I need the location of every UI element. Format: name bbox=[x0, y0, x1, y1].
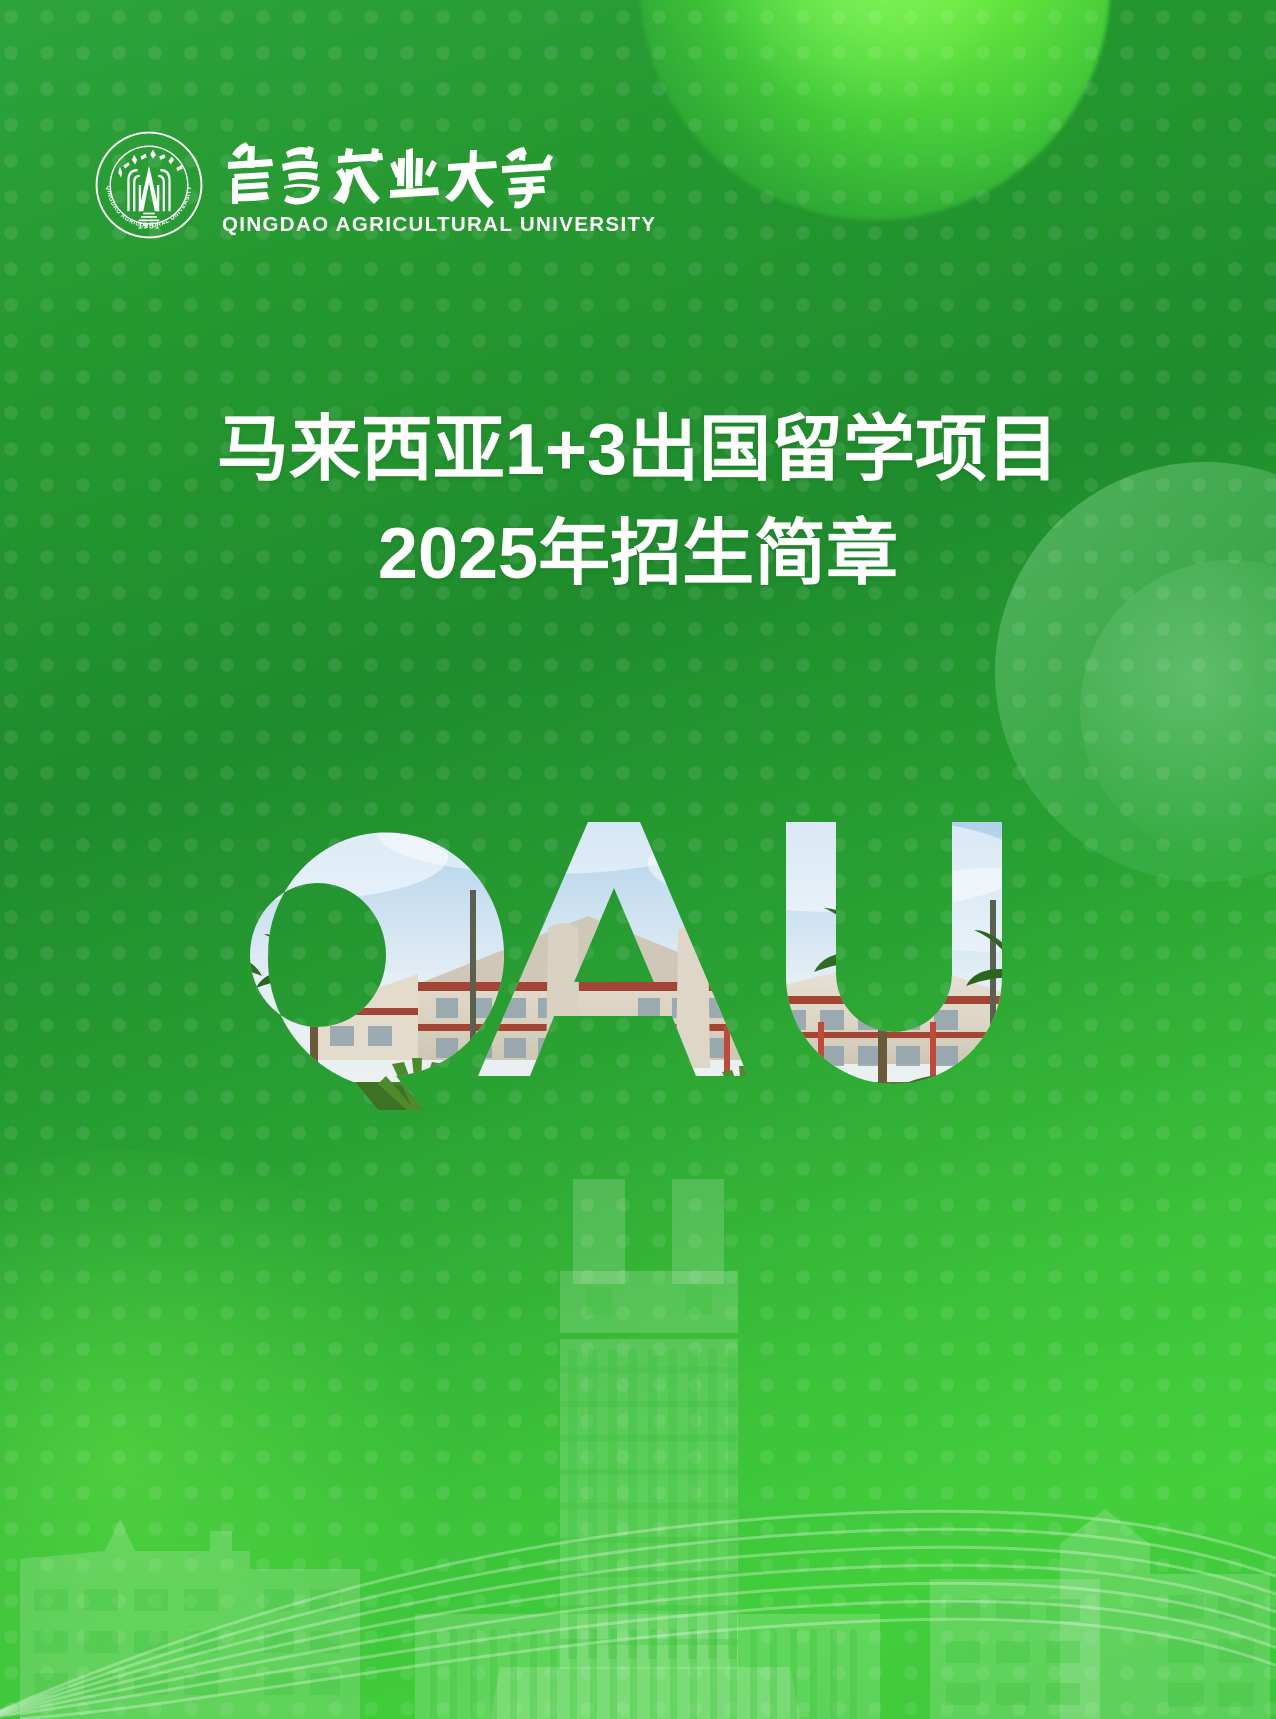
title-line-2: 2025年招生简章 bbox=[0, 502, 1276, 606]
university-chinese-name bbox=[220, 138, 560, 212]
brand-header: 1951 QINGDAO AGRICULTURAL UNIVERSITY bbox=[92, 128, 656, 242]
university-seal-icon: 1951 QINGDAO AGRICULTURAL UNIVERSITY bbox=[92, 128, 206, 242]
university-english-name: QINGDAO AGRICULTURAL UNIVERSITY bbox=[222, 213, 656, 237]
glow-bottom-left bbox=[0, 1150, 500, 1719]
glow-bottom-right bbox=[760, 1350, 1276, 1719]
campus-silhouette bbox=[0, 1159, 1276, 1719]
title-line-1: 马来西亚1+3出国留学项目 bbox=[0, 398, 1276, 502]
blob-top-right-glow bbox=[640, 0, 1110, 220]
brand-wordmark: QINGDAO AGRICULTURAL UNIVERSITY bbox=[220, 138, 656, 237]
blob-top-right-core bbox=[700, 0, 1000, 120]
flowing-curve-lines bbox=[0, 1299, 1276, 1719]
poster-root: 1951 QINGDAO AGRICULTURAL UNIVERSITY bbox=[0, 0, 1276, 1719]
qau-brand-lettering bbox=[118, 760, 1058, 1140]
poster-title: 马来西亚1+3出国留学项目 2025年招生简章 bbox=[0, 398, 1276, 606]
